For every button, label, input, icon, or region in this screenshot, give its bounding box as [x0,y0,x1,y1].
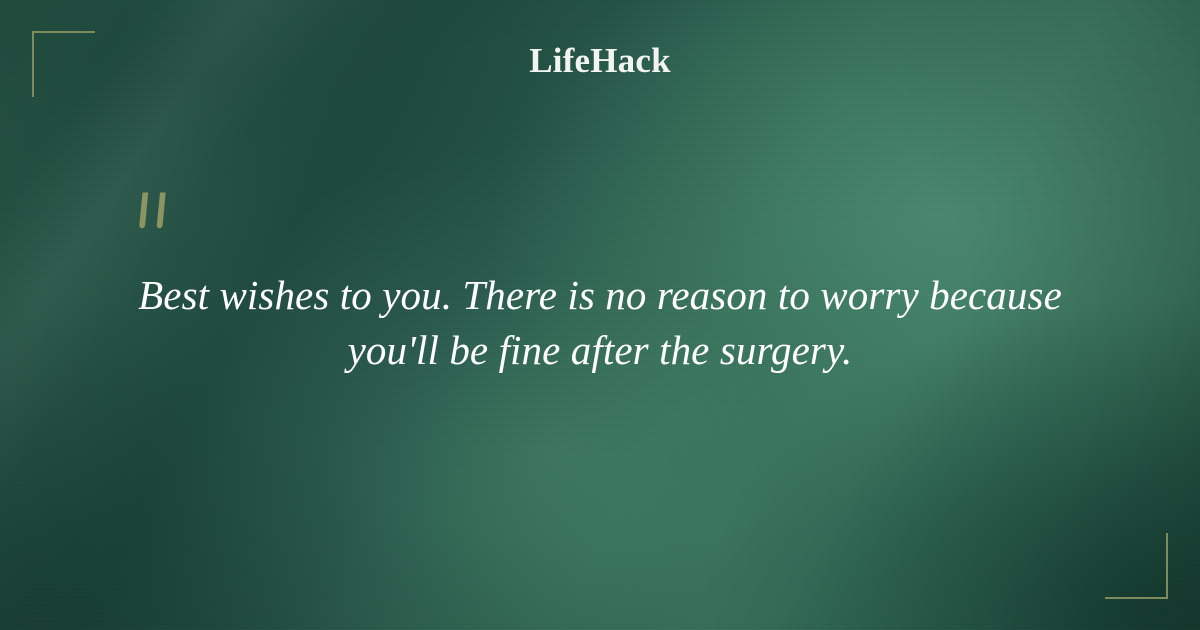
quote-card: LifeHack Best wishes to you. There is no… [0,0,1200,630]
quote-text: Best wishes to you. There is no reason t… [120,268,1080,377]
brand-logo: LifeHack [0,41,1200,81]
brand-name-text: LifeHack [529,41,671,81]
corner-bracket-bottom-right-icon [1105,533,1168,599]
quotation-mark-icon [133,190,177,238]
